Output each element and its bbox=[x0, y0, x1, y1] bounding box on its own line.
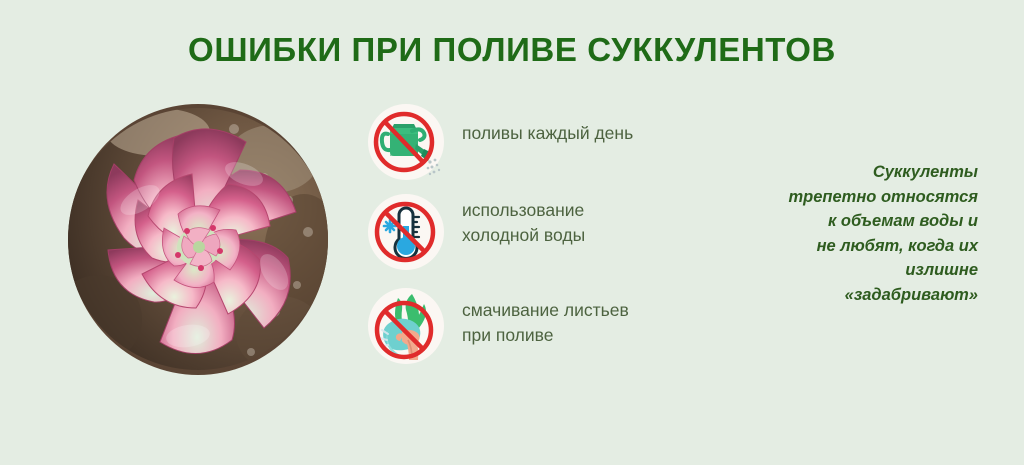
list-item-label: поливы каждый день bbox=[462, 121, 633, 146]
list-item: поливы каждый день bbox=[360, 100, 690, 190]
quote-text: Суккуленты трепетно относятся к объемам … bbox=[748, 160, 978, 307]
infographic-canvas: ОШИБКИ ПРИ ПОЛИВЕ СУККУЛЕНТОВ bbox=[0, 0, 1024, 465]
list-item-label: использование холодной воды bbox=[462, 198, 585, 248]
list-item: смачивание листьев при поливе bbox=[360, 284, 690, 378]
no-wet-leaves-icon bbox=[368, 288, 444, 364]
list-item-label: смачивание листьев при поливе bbox=[462, 298, 629, 348]
succulent-rosette-image bbox=[68, 104, 328, 375]
no-watering-can-icon bbox=[368, 104, 444, 180]
succulent-photo bbox=[68, 104, 328, 375]
page-title: ОШИБКИ ПРИ ПОЛИВЕ СУККУЛЕНТОВ bbox=[0, 30, 1024, 70]
mistakes-list: поливы каждый день bbox=[360, 100, 690, 378]
list-item: использование холодной воды bbox=[360, 190, 690, 284]
no-cold-thermometer-icon bbox=[368, 194, 444, 270]
